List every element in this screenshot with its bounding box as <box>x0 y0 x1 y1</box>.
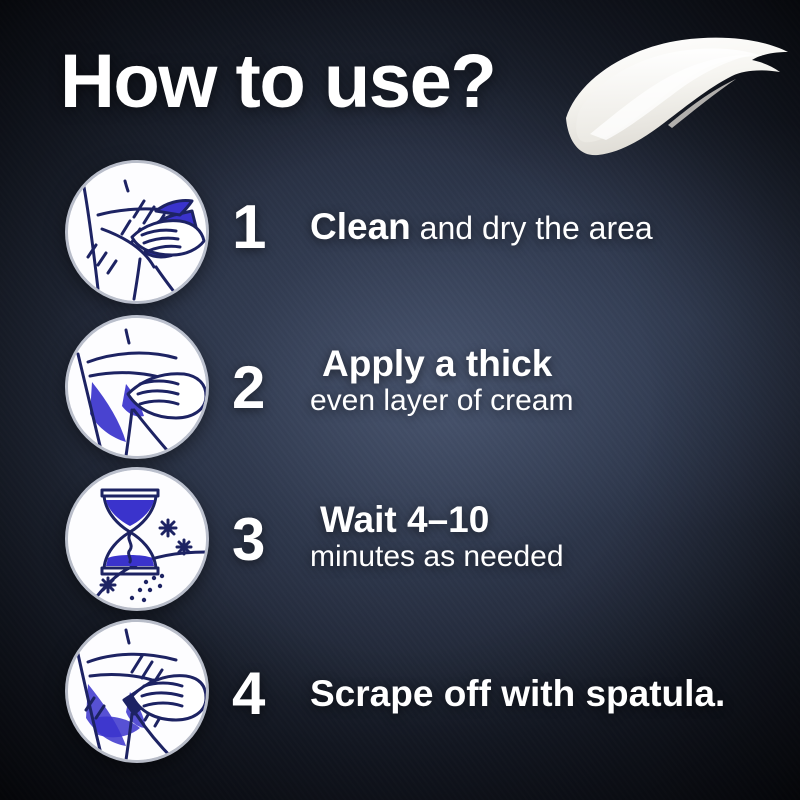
step-1-light-text: and dry the area <box>411 210 653 246</box>
step-number-1: 1 <box>232 197 302 259</box>
cream-smear-swatch <box>548 22 798 182</box>
step-row-3: 3 Wait 4–10 minutes as needed <box>0 470 800 610</box>
step-row-1: 1 Clean and dry the area <box>0 163 800 303</box>
step-number-2: 2 <box>232 358 302 418</box>
hand-scraping-spatula-icon <box>68 622 206 760</box>
hand-applying-cream-icon <box>68 318 206 456</box>
step-2-strong-text: Apply a thick <box>322 344 780 384</box>
step-text-3: Wait 4–10 minutes as needed <box>310 500 780 574</box>
step-3-sub-text: minutes as needed <box>310 540 780 575</box>
page-title: How to use? <box>60 44 495 120</box>
step-row-4: 4 Scrape off with spatula. <box>0 622 800 762</box>
step-text-1: Clean and dry the area <box>310 207 780 247</box>
step-number-4: 4 <box>232 664 302 724</box>
hourglass-timer-icon <box>68 470 206 608</box>
step-1-strong-text: Clean <box>310 206 411 247</box>
hand-wiping-with-cloth-icon <box>68 163 206 301</box>
step-2-sub-text: even layer of cream <box>310 384 780 419</box>
step-3-strong-text: Wait 4–10 <box>320 500 780 540</box>
how-to-use-poster: How to use? <box>0 0 800 800</box>
step-row-2: 2 Apply a thick even layer of cream <box>0 318 800 458</box>
step-4-strong-text: Scrape off with spatula. <box>310 674 780 714</box>
step-text-4: Scrape off with spatula. <box>310 674 780 714</box>
step-text-2: Apply a thick even layer of cream <box>310 344 780 418</box>
step-number-3: 3 <box>232 510 302 570</box>
